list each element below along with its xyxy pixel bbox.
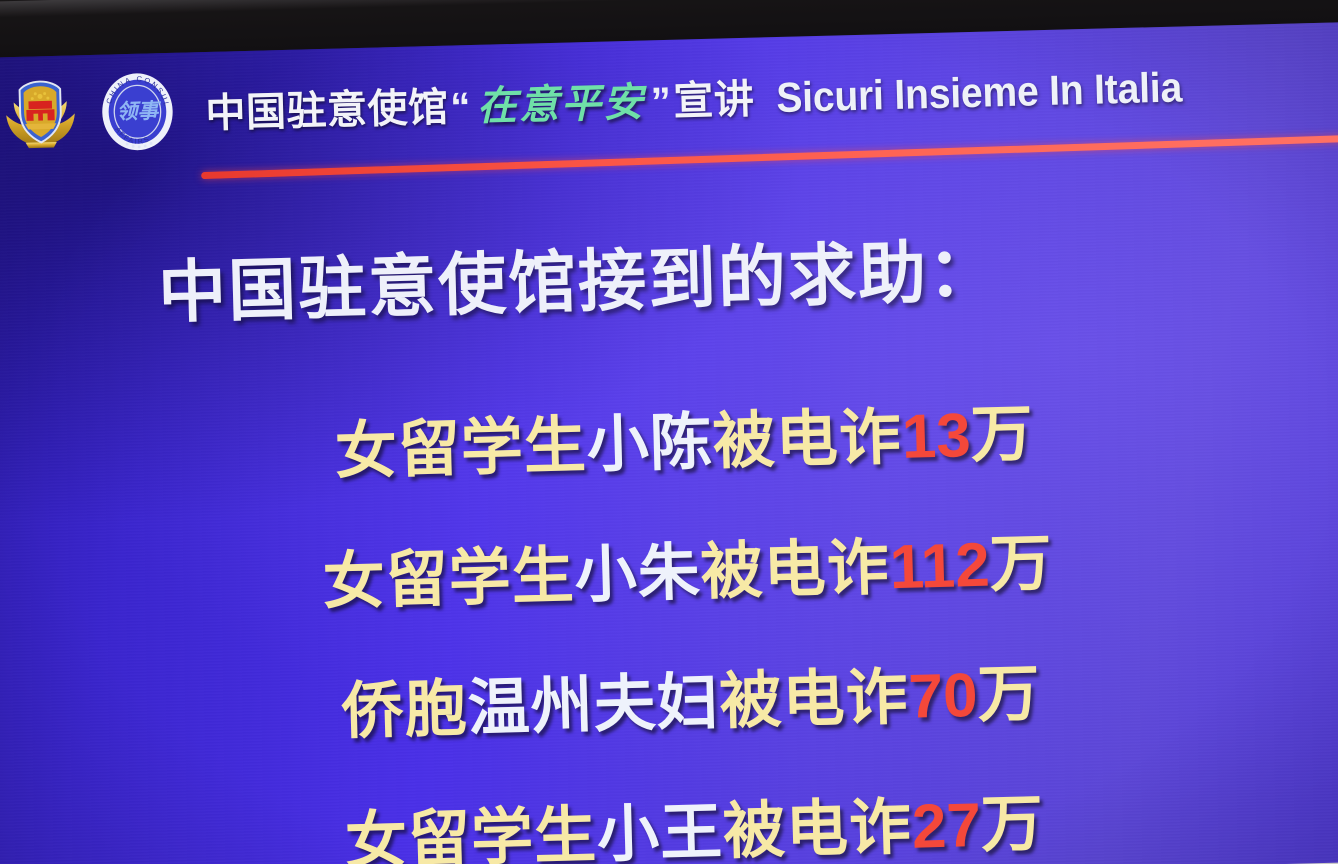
case-4-victim-name: 小王 [596,781,724,864]
case-2-amount: 112 [889,530,991,604]
header-title-slogan: 在意平安 [472,69,649,132]
header-title-open-quote: “ [448,85,474,131]
case-1-segment-1: 女留学生 [334,394,588,491]
case-1-amount-unit: 万 [969,382,1034,474]
header-title-part-5: 宣讲 [673,67,755,127]
case-1-victim-name: 小陈 [586,391,714,484]
list-item: 女留学生 小王 被电诈 27 万 [344,772,1045,864]
page-title: 中国驻意使馆接到的求助： [157,215,999,336]
case-4-amount-unit: 万 [980,772,1045,864]
list-item: 女留学生 小陈 被电诈 13 万 [334,382,1035,490]
case-2-segment-3: 被电诈 [699,516,890,611]
slide-canvas: CHINA CONSULAR AFFAIRS 领事 中国驻意使馆 “ 在 [0,21,1338,864]
presentation-screen-photo: CHINA CONSULAR AFFAIRS 领事 中国驻意使馆 “ 在 [0,0,1338,864]
svg-text:领事: 领事 [116,98,161,124]
header-title: 中国驻意使馆 “ 在意平安 ” 宣讲 Sicuri Insieme In Ita… [205,55,1214,139]
list-item: 女留学生 小朱 被电诈 112 万 [321,512,1053,621]
case-2-victim-name: 小朱 [573,521,701,614]
case-2-segment-1: 女留学生 [321,525,575,622]
case-3-amount-unit: 万 [976,642,1041,734]
bezel-highlight [0,0,1338,18]
header-title-part-1: 中国驻意使馆 [205,75,449,139]
header-title-close-quote: ” [648,80,674,126]
case-4-segment-1: 女留学生 [344,784,598,864]
case-3-segment-3: 被电诈 [718,646,909,741]
china-consular-affairs-seal-icon: CHINA CONSULAR AFFAIRS 领事 [96,69,178,155]
case-3-amount: 70 [908,660,979,733]
list-item: 侨胞 温州夫妇 被电诈 70 万 [340,642,1041,750]
case-2-amount-unit: 万 [988,512,1053,604]
case-list: 女留学生 小陈 被电诈 13 万 女留学生 小朱 被电诈 112 万 侨胞 温州… [0,373,1338,864]
case-1-segment-3: 被电诈 [711,386,902,481]
case-3-segment-1: 侨胞 [340,657,468,750]
china-national-police-emblem-icon [0,74,80,154]
case-1-amount: 13 [901,400,972,473]
case-4-amount: 27 [911,790,982,863]
case-3-victim-name: 温州夫妇 [466,651,720,748]
case-4-segment-3: 被电诈 [722,776,913,864]
header-title-italian: Sicuri Insieme In Italia [776,63,1183,122]
